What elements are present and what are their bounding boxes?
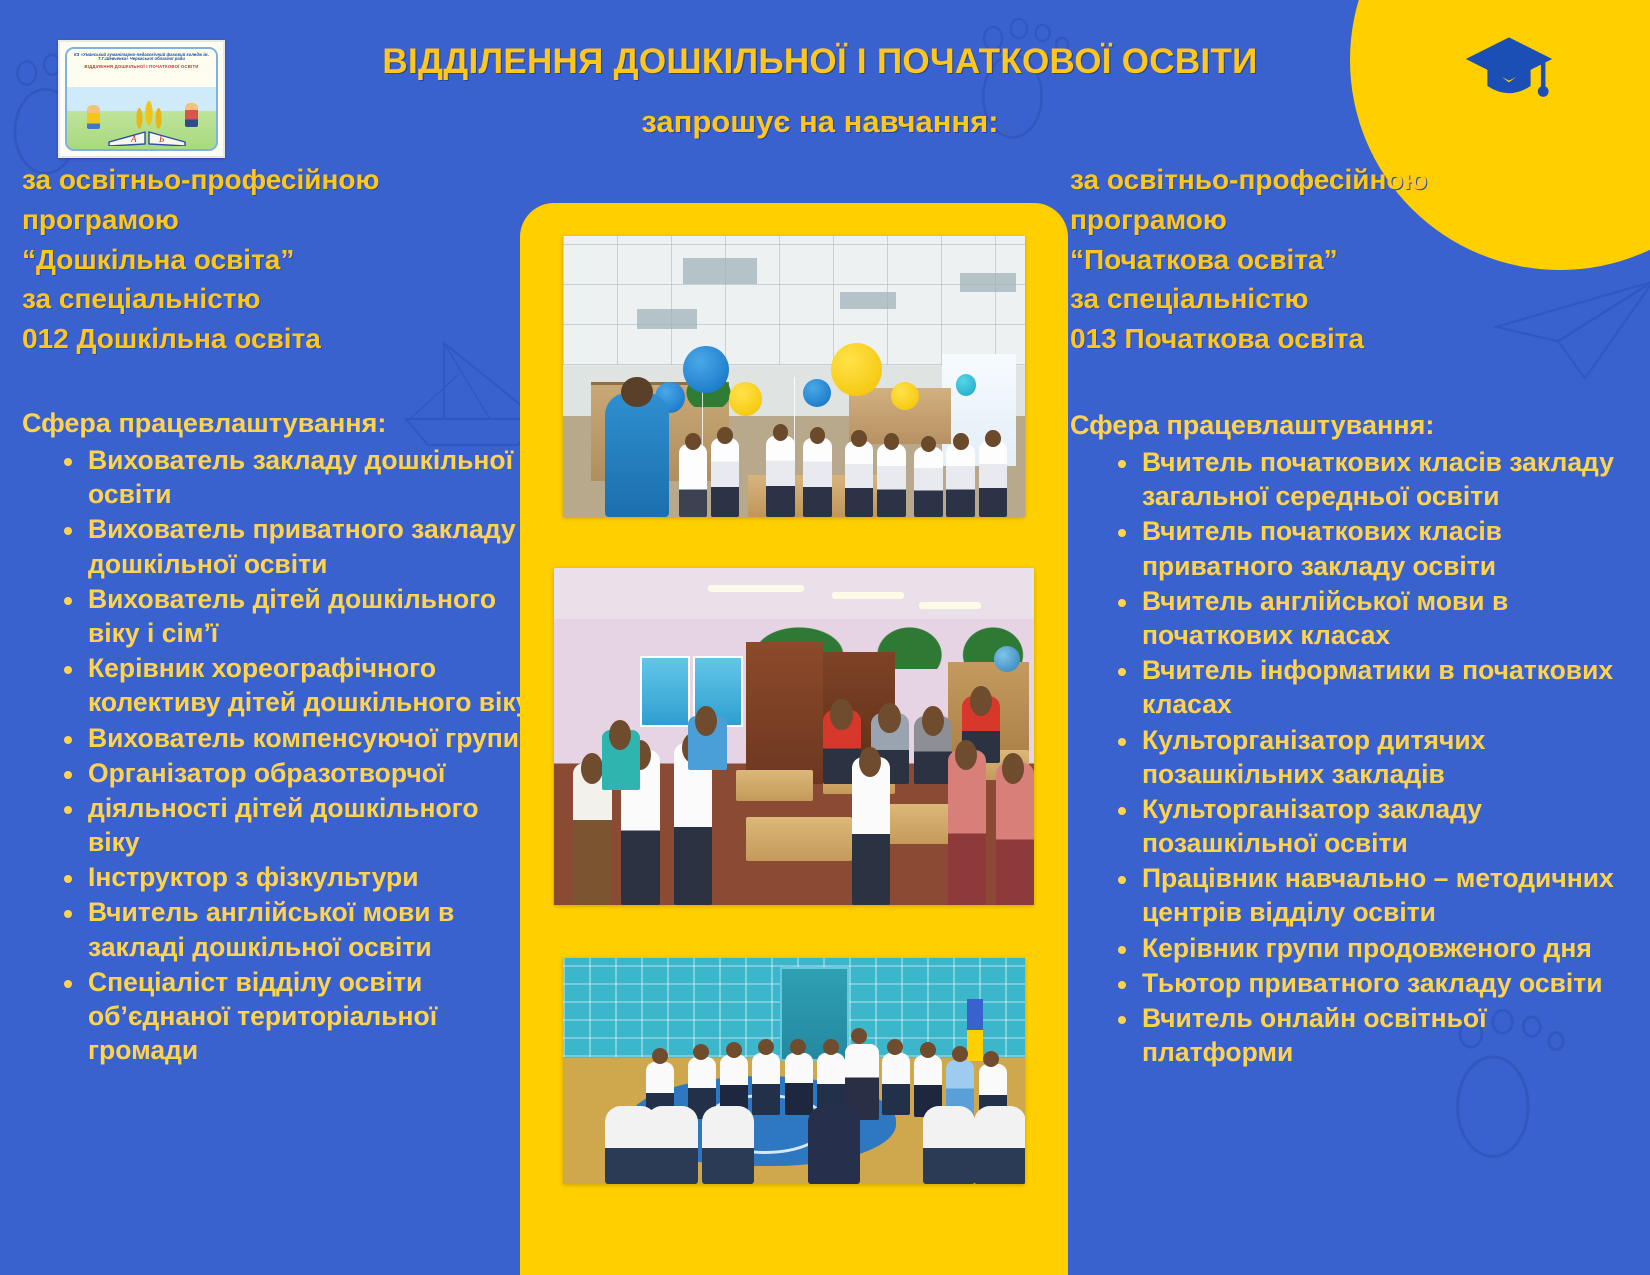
list-item: Вихователь компенсуючої групи xyxy=(88,721,532,755)
right-employment-title: Сфера працевлаштування: xyxy=(1070,409,1630,441)
left-employment-title: Сфера працевлаштування: xyxy=(22,407,532,439)
left-program-line-5: 012 Дошкільна освіта xyxy=(22,319,532,359)
list-item: Організатор образотворчої xyxy=(88,756,532,790)
emblem-institution-name: КЗ «Уманський гуманітарно-педагогічний ф… xyxy=(67,53,216,62)
svg-text:Б: Б xyxy=(158,134,165,144)
list-item: Керівник хореографічного колективу дітей… xyxy=(88,651,532,719)
right-program-column: за освітньо-професійною програмою “Почат… xyxy=(1070,160,1630,1070)
left-program-line-2: програмою xyxy=(22,200,532,240)
right-program-line-3: “Початкова освіта” xyxy=(1070,240,1630,280)
left-program-heading: за освітньо-професійною програмою “Дошкі… xyxy=(22,160,532,359)
list-item: Вчитель онлайн освітньої платформи xyxy=(1142,1001,1630,1069)
right-program-heading: за освітньо-професійною програмою “Почат… xyxy=(1070,160,1630,359)
page-subtitle: запрошує на навчання: xyxy=(250,104,1390,140)
right-job-list: Вчитель початкових класів закладу загаль… xyxy=(1070,445,1630,1069)
list-item: Вчитель англійської мови в початкових кл… xyxy=(1142,584,1630,652)
emblem-department-name: ВІДДІЛЕННЯ ДОШКІЛЬНОЇ І ПОЧАТКОВОЇ ОСВІТ… xyxy=(67,65,216,70)
list-item: Вихователь дітей дошкільного віку і сім’… xyxy=(88,582,532,650)
open-book-graphic: А Б xyxy=(107,116,187,146)
institution-emblem: А Б КЗ «Уманський гуманітарно-педагогічн… xyxy=(58,40,225,158)
right-program-line-4: за спеціальністю xyxy=(1070,279,1630,319)
list-item: Тьютор приватного закладу освіти xyxy=(1142,966,1630,1000)
left-job-list: Вихователь закладу дошкільної освіти Вих… xyxy=(22,443,532,1067)
left-program-line-4: за спеціальністю xyxy=(22,279,532,319)
list-item: Спеціаліст відділу освіти об’єднаної тер… xyxy=(88,965,532,1068)
svg-text:А: А xyxy=(130,134,137,144)
list-item: Вихователь закладу дошкільної освіти xyxy=(88,443,532,511)
list-item: Вчитель початкових класів приватного зак… xyxy=(1142,514,1630,582)
photo-classroom-exercise: Учні виконують руханку біля парт xyxy=(554,568,1034,905)
list-item: Вихователь приватного закладу дошкільної… xyxy=(88,512,532,580)
list-item: Культорганізатор закладу позашкільної ос… xyxy=(1142,792,1630,860)
child-figure-left xyxy=(87,105,100,129)
list-item: Вчитель початкових класів закладу загаль… xyxy=(1142,445,1630,513)
list-item: Працівник навчально – методичних центрів… xyxy=(1142,861,1630,929)
list-item: Вчитель інформатики в початкових класах xyxy=(1142,653,1630,721)
left-program-column: за освітньо-професійною програмою “Дошкі… xyxy=(22,160,532,1068)
right-program-line-2: програмою xyxy=(1070,200,1630,240)
graduation-cap-icon xyxy=(1464,32,1554,104)
page-title: ВІДДІЛЕННЯ ДОШКІЛЬНОЇ І ПОЧАТКОВОЇ ОСВІТ… xyxy=(250,42,1390,82)
right-program-line-5: 013 Початкова освіта xyxy=(1070,319,1630,359)
right-program-line-1: за освітньо-професійною xyxy=(1070,160,1630,200)
left-program-line-1: за освітньо-професійною xyxy=(22,160,532,200)
list-item: Вчитель англійської мови в закладі дошкі… xyxy=(88,895,532,963)
list-item: Культорганізатор дитячих позашкільних за… xyxy=(1142,723,1630,791)
photo-classroom-ceremony: Класна кімната зі святковими кульками xyxy=(563,236,1025,517)
poster-header: ВІДДІЛЕННЯ ДОШКІЛЬНОЇ І ПОЧАТКОВОЇ ОСВІТ… xyxy=(250,42,1390,140)
list-item: Керівник групи продовженого дня xyxy=(1142,931,1630,965)
left-program-line-3: “Дошкільна освіта” xyxy=(22,240,532,280)
poster-root: А Б КЗ «Уманський гуманітарно-педагогічн… xyxy=(0,0,1650,1275)
list-item: Інструктор з фізкультури xyxy=(88,860,532,894)
center-photo-panel: Класна кімната зі святковими кульками xyxy=(520,203,1068,1275)
list-item: діяльності дітей дошкільного віку xyxy=(88,791,532,859)
photo-gym-circle: Діти у спортзалі тримаються за руки у ко… xyxy=(563,958,1025,1184)
